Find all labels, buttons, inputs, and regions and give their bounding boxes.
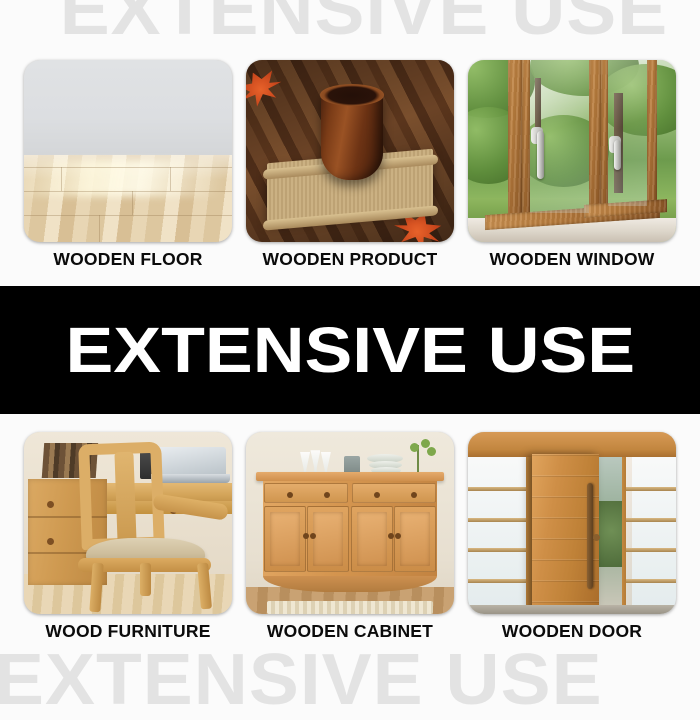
cabinet-door — [264, 506, 306, 572]
watermark-top: EXTENSIVE USE — [0, 0, 700, 46]
cup-rim — [320, 84, 384, 106]
watermark-bottom: EXTENSIVE USE — [0, 644, 700, 716]
card-caption: WOODEN WINDOW — [490, 249, 655, 270]
wooden-cup — [321, 89, 383, 180]
window-sash-middle — [522, 60, 530, 224]
card-caption: WOODEN DOOR — [502, 621, 642, 642]
window-frame-left — [508, 60, 523, 224]
outdoor-shrub — [599, 501, 624, 567]
banner-title: EXTENSIVE USE — [65, 318, 635, 382]
scene-wooden-cabinet — [246, 432, 454, 614]
door-threshold — [468, 605, 676, 614]
scene-wooden-floor — [24, 60, 232, 242]
cabinet-door — [351, 506, 393, 572]
window-sash-right — [601, 60, 608, 213]
image-row-top: WOODEN FLOOR WOODEN PRODUCT — [0, 60, 700, 270]
cabinet-drawer — [264, 483, 348, 504]
card-caption: WOODEN FLOOR — [53, 249, 202, 270]
door-panel — [400, 512, 430, 566]
card-wooden-window[interactable]: WOODEN WINDOW — [468, 60, 676, 270]
card-caption: WOOD FURNITURE — [45, 621, 210, 642]
floor-wall — [24, 60, 232, 155]
window-frame-far-right — [647, 60, 657, 206]
door-pull-handle — [587, 483, 593, 589]
cabinet-knob — [47, 501, 54, 508]
window-frame-center — [589, 60, 601, 213]
card-wooden-product[interactable]: WOODEN PRODUCT — [246, 60, 454, 270]
door-panel — [313, 512, 343, 566]
sidelight-left — [468, 457, 526, 614]
card-wooden-floor[interactable]: WOODEN FLOOR — [24, 60, 232, 270]
cabinet-knob — [47, 538, 54, 545]
thumbnail-wooden-window[interactable] — [468, 60, 676, 242]
thumbnail-wooden-product[interactable] — [246, 60, 454, 242]
cabinet-body — [263, 481, 438, 576]
laptop-screen — [155, 447, 226, 476]
door-lock — [593, 534, 600, 541]
cabinet-top-surface — [256, 472, 443, 481]
window-handle — [614, 140, 621, 170]
card-caption: WOODEN PRODUCT — [263, 249, 438, 270]
cabinet-door — [394, 506, 436, 572]
scene-wood-furniture — [24, 432, 232, 614]
cabinet-drawer — [352, 483, 436, 504]
door-knob — [303, 533, 309, 539]
thumbnail-wood-furniture[interactable] — [24, 432, 232, 614]
card-wood-furniture[interactable]: WOOD FURNITURE — [24, 432, 232, 642]
card-wooden-cabinet[interactable]: WOODEN CABINET — [246, 432, 454, 642]
laptop-base — [151, 474, 230, 483]
door-panel — [357, 512, 387, 566]
door-knob — [310, 533, 316, 539]
chair-splat — [114, 452, 136, 544]
scene-wooden-product — [246, 60, 454, 242]
floor-rug — [267, 601, 433, 614]
extensive-use-banner: EXTENSIVE USE — [0, 286, 700, 414]
window-handle — [537, 131, 544, 179]
image-row-bottom: WOOD FURNITURE — [0, 432, 700, 642]
thumbnail-wooden-cabinet[interactable] — [246, 432, 454, 614]
card-caption: WOODEN CABINET — [267, 621, 433, 642]
door-opening — [599, 457, 624, 614]
thumbnail-wooden-floor[interactable] — [24, 60, 232, 242]
door-panel — [270, 512, 300, 566]
thumbnail-wooden-door[interactable] — [468, 432, 676, 614]
sidelight-right — [626, 457, 676, 614]
card-wooden-door[interactable]: WOODEN DOOR — [468, 432, 676, 642]
scene-wooden-door — [468, 432, 676, 614]
scene-wooden-window — [468, 60, 676, 242]
